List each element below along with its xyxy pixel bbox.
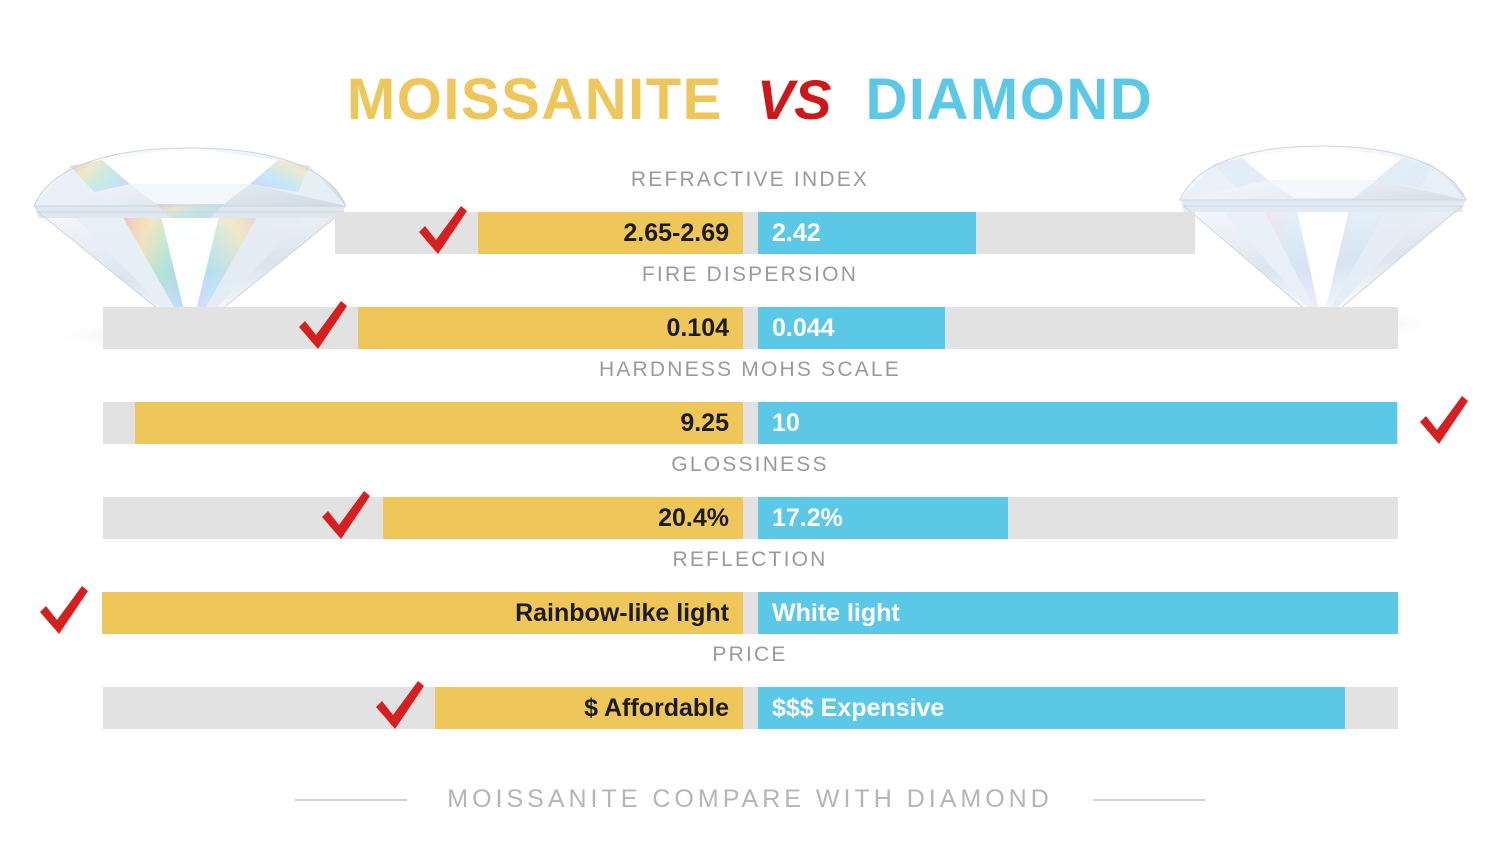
title-vs: VS xyxy=(757,67,832,132)
row-track xyxy=(103,497,1398,539)
moissanite-bar[interactable]: 2.65-2.69 xyxy=(478,212,743,254)
title-moissanite: MOISSANITE xyxy=(347,66,723,133)
moissanite-value: 0.104 xyxy=(666,314,729,343)
row-label: REFRACTIVE INDEX xyxy=(0,168,1500,192)
comparison-row: REFRACTIVE INDEX 2.65-2.69 2.42 xyxy=(0,168,1500,263)
moissanite-value: $ Affordable xyxy=(584,694,729,723)
footer-divider-right xyxy=(1093,799,1205,801)
diamond-value: 17.2% xyxy=(772,504,843,533)
checkmark-icon xyxy=(36,584,90,638)
moissanite-bar[interactable]: 20.4% xyxy=(383,497,743,539)
moissanite-bar[interactable]: $ Affordable xyxy=(435,687,743,729)
moissanite-bar[interactable]: 9.25 xyxy=(135,402,743,444)
comparison-row: GLOSSINESS 20.4% 17.2% xyxy=(0,453,1500,548)
diamond-value: 0.044 xyxy=(772,314,835,343)
footer-caption: MOISSANITE COMPARE WITH DIAMOND xyxy=(447,785,1053,814)
footer-divider-left xyxy=(295,799,407,801)
row-label: GLOSSINESS xyxy=(0,453,1500,477)
diamond-value: White light xyxy=(772,599,900,628)
checkmark-icon xyxy=(318,489,372,543)
row-label: REFLECTION xyxy=(0,548,1500,572)
comparison-row: HARDNESS MOHS SCALE 9.25 10 xyxy=(0,358,1500,453)
comparison-row: FIRE DISPERSION 0.104 0.044 xyxy=(0,263,1500,358)
row-label: HARDNESS MOHS SCALE xyxy=(0,358,1500,382)
comparison-row: PRICE $ Affordable $$$ Expensive xyxy=(0,643,1500,738)
diamond-value: $$$ Expensive xyxy=(772,694,944,723)
checkmark-icon xyxy=(372,679,426,733)
diamond-bar[interactable]: 17.2% xyxy=(758,497,1008,539)
moissanite-value: 20.4% xyxy=(658,504,729,533)
title-diamond: DIAMOND xyxy=(866,66,1154,133)
moissanite-bar[interactable]: Rainbow-like light xyxy=(102,592,743,634)
row-label: PRICE xyxy=(0,643,1500,667)
comparison-row: REFLECTION Rainbow-like light White ligh… xyxy=(0,548,1500,643)
footer: MOISSANITE COMPARE WITH DIAMOND xyxy=(0,785,1500,814)
diamond-bar[interactable]: White light xyxy=(758,592,1398,634)
checkmark-icon xyxy=(415,204,469,258)
diamond-bar[interactable]: 10 xyxy=(758,402,1397,444)
moissanite-value: 2.65-2.69 xyxy=(623,219,729,248)
row-label: FIRE DISPERSION xyxy=(0,263,1500,287)
page-title: MOISSANITE VS DIAMOND xyxy=(0,66,1500,133)
checkmark-icon xyxy=(295,299,349,353)
diamond-bar[interactable]: $$$ Expensive xyxy=(758,687,1345,729)
diamond-value: 10 xyxy=(772,409,800,438)
moissanite-value: Rainbow-like light xyxy=(515,599,729,628)
moissanite-bar[interactable]: 0.104 xyxy=(358,307,743,349)
comparison-rows: REFRACTIVE INDEX 2.65-2.69 2.42 FIRE DIS… xyxy=(0,168,1500,738)
moissanite-value: 9.25 xyxy=(680,409,729,438)
checkmark-icon xyxy=(1416,394,1470,448)
diamond-bar[interactable]: 2.42 xyxy=(758,212,976,254)
infographic-canvas: MOISSANITE VS DIAMOND xyxy=(0,0,1500,850)
diamond-bar[interactable]: 0.044 xyxy=(758,307,945,349)
diamond-value: 2.42 xyxy=(772,219,821,248)
